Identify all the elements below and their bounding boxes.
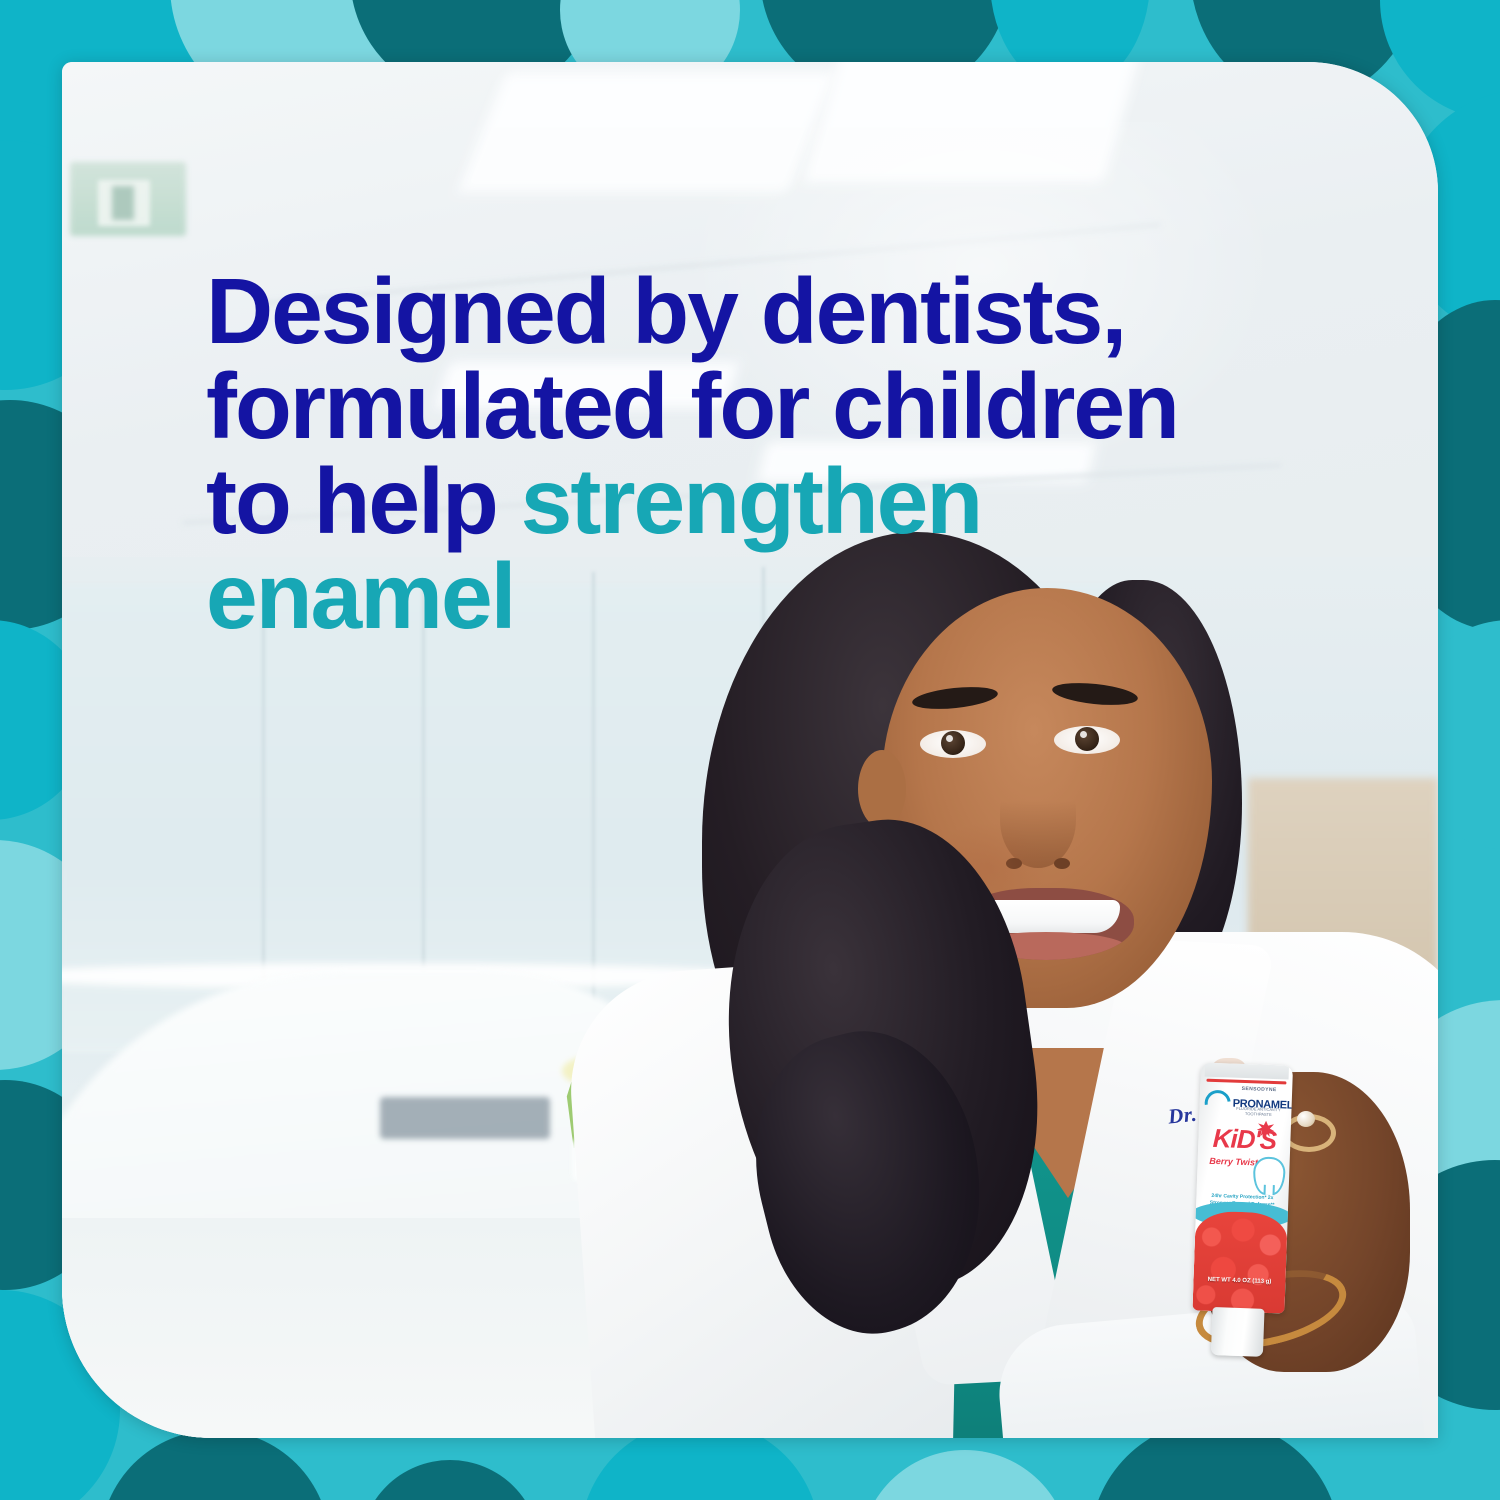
headline-line-3-navy: to help — [206, 449, 521, 553]
pronamel-swoosh-icon — [1199, 1085, 1235, 1121]
desk-monitor — [380, 1097, 550, 1139]
ear — [858, 750, 906, 828]
hero-photo: Dr. Porsh SENSODYNE PRONAMEL F — [62, 62, 1438, 1438]
headline-line-3-teal: strengthen — [521, 449, 982, 553]
pattern-dot — [100, 1430, 330, 1500]
nostril-right — [1054, 858, 1070, 869]
eye-right — [1054, 726, 1120, 754]
pattern-dot — [860, 1450, 1070, 1500]
ad-canvas: Dr. Porsh SENSODYNE PRONAMEL F — [0, 0, 1500, 1500]
iris — [1075, 727, 1099, 751]
pattern-dot — [360, 1460, 540, 1500]
headline-line-4: enamel — [206, 549, 1438, 644]
tube-red-stripe — [1206, 1079, 1286, 1085]
headline-line-1: Designed by dentists, — [206, 264, 1438, 359]
headline-line-3: to help strengthen — [206, 454, 1438, 549]
tube-crimp — [1205, 1063, 1289, 1080]
eye-left — [920, 730, 986, 758]
ceiling-light-panel — [803, 62, 1140, 182]
ceiling-light-panel — [458, 72, 836, 192]
page-title: Designed by dentists, formulated for chi… — [206, 264, 1438, 643]
product-line-kids: KiD'S — [1206, 1123, 1283, 1157]
iris — [941, 731, 965, 755]
headline-line-2: formulated for children — [206, 359, 1438, 454]
tube-cap — [1211, 1307, 1265, 1357]
tube-body: SENSODYNE PRONAMEL FLUORIDE ANTICAVITY T… — [1192, 1062, 1293, 1313]
brand-descriptor: FLUORIDE ANTICAVITY TOOTHPASTE — [1229, 1106, 1287, 1118]
exit-sign-glyph-icon — [98, 180, 150, 226]
tooth-mascot-icon — [1253, 1156, 1286, 1195]
strawberry-graphic — [1192, 1210, 1287, 1313]
toothpaste-tube: SENSODYNE PRONAMEL FLUORIDE ANTICAVITY T… — [1191, 1062, 1293, 1355]
